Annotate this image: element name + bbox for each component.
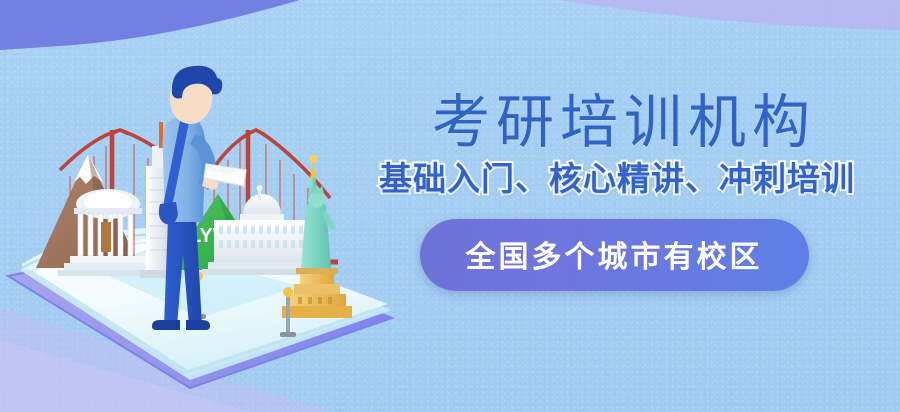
promo-banner: LLYWO: [0, 0, 900, 412]
subtitle: 基础入门、核心精讲、冲刺培训: [352, 161, 882, 197]
cta-button[interactable]: 全国多个城市有校区: [420, 219, 809, 291]
page-title: 考研培训机构: [352, 92, 882, 155]
copy-block: 考研培训机构 基础入门、核心精讲、冲刺培训 全国多个城市有校区: [352, 92, 882, 291]
